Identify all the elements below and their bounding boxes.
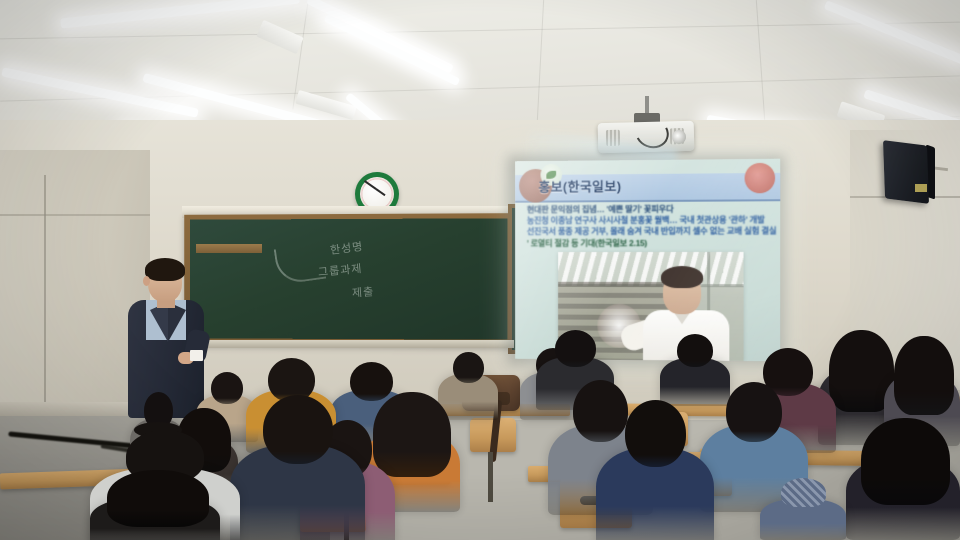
head [781, 478, 826, 507]
head [453, 352, 484, 383]
student-cap-wearer [760, 478, 846, 540]
slide-line: 선진국서 품종 제공 거부, 몰래 숨겨 국내 반입까지 셀수 없는 교배 실험… [527, 226, 774, 238]
strawberry-circle-icon [745, 163, 776, 194]
head [677, 334, 713, 367]
presenter-note-card [190, 350, 203, 361]
student-navy-quilted-jacket [230, 395, 365, 540]
student-long-black-hair-center [90, 470, 220, 540]
head [107, 470, 209, 527]
student-long-hair-front-right [846, 418, 960, 540]
head [625, 400, 686, 467]
researcher-hair [661, 266, 703, 288]
classroom-photo: 한성명 그룹과제 제출 홍보(한국일보) 현대판 문익점의 집념… '예쁜 딸기… [0, 0, 960, 540]
head [555, 330, 596, 367]
blackboard-rail [182, 340, 514, 348]
slide-line: ' 로열티 절감 등 기대(한국일보 2.15) [527, 237, 774, 249]
head [861, 418, 950, 505]
speaker-badge [915, 184, 927, 192]
chalk-ledge [196, 244, 262, 253]
green-chalkboard [190, 218, 508, 339]
student-navy-sweater-front [596, 400, 714, 540]
wall-seam [0, 214, 150, 216]
slide-line: 농진청 이종남 연구사 사시사철 분홍꽃 월백… 국내 첫관상용 '관하' 개발 [527, 215, 774, 227]
presenter-hair [145, 258, 185, 281]
wall-speaker [883, 140, 929, 204]
chalk-text: 제출 [351, 283, 374, 301]
slide-header-underline [515, 199, 780, 203]
head [263, 395, 333, 464]
head [726, 382, 782, 442]
slide-title: 홍보(한국일보) [539, 176, 622, 195]
projector-vent [606, 130, 620, 146]
presenter-ear [143, 276, 150, 286]
slide-body-text: 현대판 문익점의 집념… '예쁜 딸기' 꽃피우다 농진청 이종남 연구사 사시… [527, 203, 774, 249]
desk-leg [488, 452, 493, 502]
projector-lens-icon [672, 130, 686, 144]
head [894, 336, 954, 415]
